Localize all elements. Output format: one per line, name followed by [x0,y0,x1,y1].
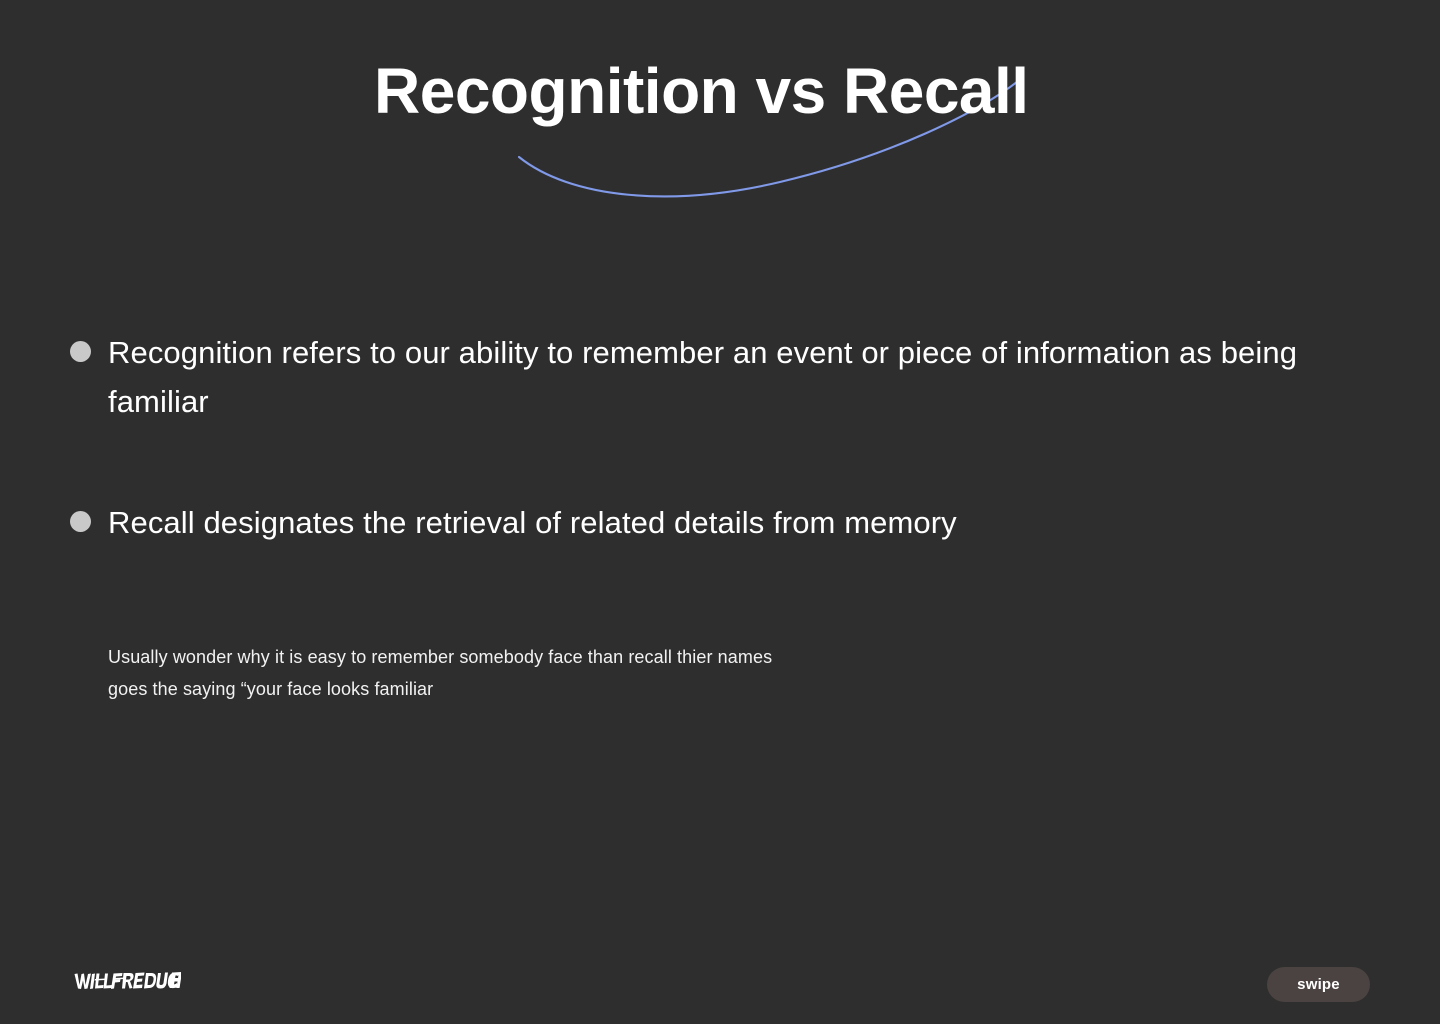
swipe-button[interactable]: swipe [1267,967,1370,1002]
brand-logo-icon [73,966,181,996]
bullet-text: Recall designates the retrieval of relat… [108,498,957,547]
bullet-text: Recognition refers to our ability to rem… [108,328,1398,426]
swipe-button-label: swipe [1297,976,1340,993]
slide-canvas: Recognition vs Recall Recognition refers… [0,0,1440,1024]
title-area: Recognition vs Recall [0,0,1440,230]
note-line-1: Usually wonder why it is easy to remembe… [108,641,1068,673]
note-line-2: goes the saying “your face looks familia… [108,673,1068,705]
bullet-dot-icon [70,341,91,362]
note-block: Usually wonder why it is easy to remembe… [108,641,1068,705]
bullet-list: Recognition refers to our ability to rem… [70,328,1410,595]
bullet-dot-icon [70,511,91,532]
list-item: Recall designates the retrieval of relat… [70,498,1410,547]
page-title: Recognition vs Recall [374,52,1029,130]
list-item: Recognition refers to our ability to rem… [70,328,1410,426]
